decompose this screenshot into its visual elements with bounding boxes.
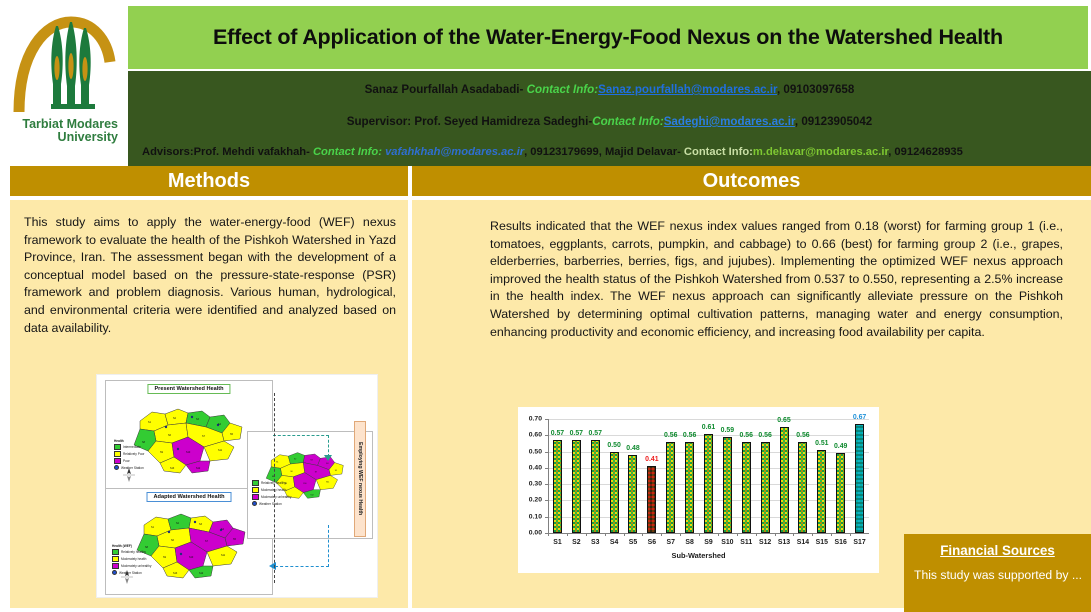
- contact-label-4: Contact Info:: [684, 146, 753, 158]
- svg-text:S11: S11: [326, 482, 329, 484]
- chart-x-axis: [548, 533, 869, 534]
- outcomes-heading: Outcomes: [703, 170, 801, 193]
- chart-x-tick: [718, 533, 719, 536]
- svg-text:S12: S12: [199, 572, 204, 575]
- logo-line-2: University: [10, 131, 118, 144]
- tarbiat-modares-logo-icon: [9, 8, 119, 120]
- financial-sources-heading: Financial Sources: [904, 543, 1091, 558]
- chart-y-tick-label: 0.00: [520, 530, 542, 537]
- flow-arrow-left: [275, 566, 329, 567]
- poster-title-bar: Effect of Application of the Water-Energ…: [128, 6, 1088, 69]
- advisor1-phone: , 09123179699,: [524, 146, 605, 158]
- chart-y-tick-label: 0.50: [520, 448, 542, 455]
- map-right-legend: Relatively healthy Moderately health Mod…: [252, 480, 291, 507]
- chart-bar-value-label: 0.51: [815, 440, 828, 447]
- flow-arrow-top: [273, 435, 329, 436]
- chart-x-tick-label: S17: [853, 539, 865, 546]
- svg-text:S1: S1: [276, 462, 278, 464]
- poster-root: Tarbiat Modares University Effect of App…: [0, 0, 1091, 612]
- chart-x-tick-label: S7: [667, 539, 675, 546]
- svg-text:S6: S6: [290, 471, 292, 473]
- chart-bar-value-label: 0.59: [721, 427, 734, 434]
- supervisor-email-link[interactable]: Sadeghi@modares.ac.ir: [664, 115, 795, 128]
- chart-bar-value-label: 0.49: [834, 443, 847, 450]
- chart-x-axis-title: Sub-Watershed: [518, 551, 879, 560]
- chart-x-tick: [567, 533, 568, 536]
- presenter-name: Sanaz Pourfallah Asadabadi-: [365, 83, 524, 96]
- chart-x-tick-label: S12: [759, 539, 771, 546]
- chart-y-tick-label: 0.10: [520, 513, 542, 520]
- chart-bar-value-label: 0.56: [664, 432, 677, 439]
- financial-sources-body: This study was supported by ...: [914, 567, 1082, 584]
- figure-divider-dashed: [274, 393, 275, 583]
- chart-x-tick-label: S11: [740, 539, 752, 546]
- advisor2-name: Majid Delavar-: [605, 146, 681, 158]
- chart-x-tick: [775, 533, 776, 536]
- chart-plot-area: 0.700.600.500.400.300.200.100.000.57S10.…: [518, 407, 879, 573]
- flow-arrow-down: [328, 435, 329, 457]
- chart-bar: [761, 442, 770, 533]
- chart-x-tick: [831, 533, 832, 536]
- wef-index-bar-chart: 0.700.600.500.400.300.200.100.000.57S10.…: [518, 407, 879, 573]
- chart-bar-value-label: 0.57: [588, 430, 601, 437]
- contact-label-1: Contact Info:: [527, 83, 598, 96]
- svg-text:S12: S12: [196, 467, 201, 470]
- author-line-supervisor: Supervisor: Prof. Seyed Hamidreza Sadegh…: [128, 115, 1091, 128]
- chart-x-tick-label: S4: [610, 539, 618, 546]
- chart-x-tick: [737, 533, 738, 536]
- chart-y-tick-label: 0.20: [520, 497, 542, 504]
- svg-text:S12: S12: [310, 494, 313, 496]
- methods-panel: This study aims to apply the water-energ…: [10, 200, 408, 608]
- chart-bar-value-label: 0.56: [758, 432, 771, 439]
- flow-arrow-head-down: [324, 455, 332, 461]
- chart-x-tick: [812, 533, 813, 536]
- chart-x-tick-label: S10: [721, 539, 733, 546]
- university-logo: Tarbiat Modares University: [0, 0, 128, 165]
- author-line-advisors: Advisors:Prof. Mehdi vafakhah- Contact I…: [128, 146, 1091, 158]
- compass-rose-icon-2: [120, 569, 134, 586]
- logo-text: Tarbiat Modares University: [10, 118, 118, 144]
- map-bottom-title: Adapted Watershed Health: [147, 492, 232, 502]
- supervisor-phone: , 09123905042: [795, 115, 872, 128]
- chart-bar: [780, 427, 789, 533]
- svg-text:S13: S13: [170, 467, 175, 470]
- contact-label-3: Contact Info:: [313, 146, 382, 158]
- chart-x-tick: [756, 533, 757, 536]
- chart-x-tick: [642, 533, 643, 536]
- svg-text:S11: S11: [221, 554, 226, 557]
- section-header-outcomes: Outcomes: [412, 166, 1091, 196]
- chart-bar: [855, 424, 864, 533]
- contact-label-2: Contact Info:: [592, 115, 663, 128]
- svg-text:S10: S10: [186, 451, 191, 454]
- chart-bar-value-label: 0.56: [683, 432, 696, 439]
- svg-text:S10: S10: [303, 483, 306, 485]
- chart-bar: [647, 466, 656, 533]
- chart-x-tick-label: S6: [648, 539, 656, 546]
- section-header-methods: Methods: [10, 166, 408, 196]
- chart-bar: [742, 442, 751, 533]
- chart-y-tick-label: 0.30: [520, 481, 542, 488]
- chart-bar-value-label: 0.48: [626, 445, 639, 452]
- chart-x-tick: [850, 533, 851, 536]
- methods-heading: Methods: [168, 170, 250, 193]
- chart-bar-value-label: 0.57: [570, 430, 583, 437]
- svg-text:S7: S7: [315, 472, 317, 474]
- chart-x-tick: [699, 533, 700, 536]
- chart-x-tick: [548, 533, 549, 536]
- advisor2-email-link[interactable]: m.delavar@modares.ac.ir: [753, 146, 888, 158]
- chart-x-tick-label: S5: [629, 539, 637, 546]
- chart-x-tick-label: S16: [835, 539, 847, 546]
- svg-text:S5: S5: [335, 470, 337, 472]
- compass-rose-icon: [122, 467, 136, 484]
- methods-body-text: This study aims to apply the water-energ…: [24, 214, 396, 337]
- svg-text:S2: S2: [294, 459, 296, 461]
- svg-text:S4: S4: [326, 463, 328, 465]
- chart-x-tick-label: S8: [685, 539, 693, 546]
- chart-bar: [572, 440, 581, 533]
- svg-text:S13: S13: [173, 572, 178, 575]
- chart-x-tick-label: S15: [816, 539, 828, 546]
- chart-bar: [723, 437, 732, 533]
- chart-x-tick: [624, 533, 625, 536]
- chart-x-tick-label: S2: [572, 539, 580, 546]
- svg-text:S10: S10: [189, 556, 194, 559]
- page-title: Effect of Application of the Water-Energ…: [213, 25, 1003, 50]
- chart-bar: [666, 442, 675, 533]
- map-top-title: Present Watershed Health: [147, 384, 230, 394]
- svg-text:S11: S11: [218, 449, 223, 452]
- chart-bar-value-label: 0.56: [796, 432, 809, 439]
- chart-y-axis: [548, 419, 549, 533]
- chart-x-tick: [793, 533, 794, 536]
- svg-text:S3: S3: [310, 459, 312, 461]
- watershed-maps-figure: Present Watershed Health: [96, 374, 378, 598]
- chart-bar: [591, 440, 600, 533]
- employing-wef-nexus-label: Employing WEF nexus Health: [354, 421, 366, 537]
- chart-y-tick-label: 0.40: [520, 464, 542, 471]
- chart-x-tick: [586, 533, 587, 536]
- chart-bar-value-label: 0.57: [551, 430, 564, 437]
- chart-bar-value-label: 0.50: [607, 442, 620, 449]
- chart-bar-value-label: 0.65: [777, 417, 790, 424]
- chart-bar-value-label: 0.41: [645, 456, 658, 463]
- authors-block: Sanaz Pourfallah Asadabadi- Contact Info…: [128, 71, 1091, 166]
- presenter-email-link[interactable]: Sanaz.pourfallah@modares.ac.ir: [598, 83, 777, 96]
- chart-x-tick-label: S9: [704, 539, 712, 546]
- chart-bar-value-label: 0.67: [853, 414, 866, 421]
- chart-bar-value-label: 0.61: [702, 424, 715, 431]
- chart-x-tick: [661, 533, 662, 536]
- chart-bar: [817, 450, 826, 533]
- supervisor-name: Supervisor: Prof. Seyed Hamidreza Sadegh…: [347, 115, 592, 128]
- chart-bar: [836, 453, 845, 533]
- author-line-presenter: Sanaz Pourfallah Asadabadi- Contact Info…: [128, 83, 1091, 96]
- advisor1-name: Advisors:Prof. Mehdi vafakhah-: [142, 146, 310, 158]
- outcomes-body-text: Results indicated that the WEF nexus ind…: [490, 218, 1063, 341]
- chart-bar-value-label: 0.56: [740, 432, 753, 439]
- chart-x-tick-label: S1: [553, 539, 561, 546]
- chart-y-tick-label: 0.70: [520, 416, 542, 423]
- chart-x-tick: [605, 533, 606, 536]
- flow-arrow-down-2: [328, 525, 329, 567]
- advisor2-phone: , 09124628935: [888, 146, 963, 158]
- presenter-phone: , 09103097658: [777, 83, 854, 96]
- chart-bar: [685, 442, 694, 533]
- chart-y-tick-label: 0.60: [520, 432, 542, 439]
- chart-x-tick-label: S3: [591, 539, 599, 546]
- chart-bar: [798, 442, 807, 533]
- chart-x-tick: [680, 533, 681, 536]
- chart-bar: [553, 440, 562, 533]
- chart-x-tick-label: S13: [778, 539, 790, 546]
- financial-sources-box: Financial Sources This study was support…: [904, 534, 1091, 612]
- advisor1-email-link[interactable]: vafahkhah@modares.ac.ir: [385, 146, 524, 158]
- chart-bar: [610, 452, 619, 533]
- chart-gridline: [548, 419, 869, 420]
- chart-bar: [704, 434, 713, 533]
- chart-x-tick-label: S14: [797, 539, 809, 546]
- chart-bar: [628, 455, 637, 533]
